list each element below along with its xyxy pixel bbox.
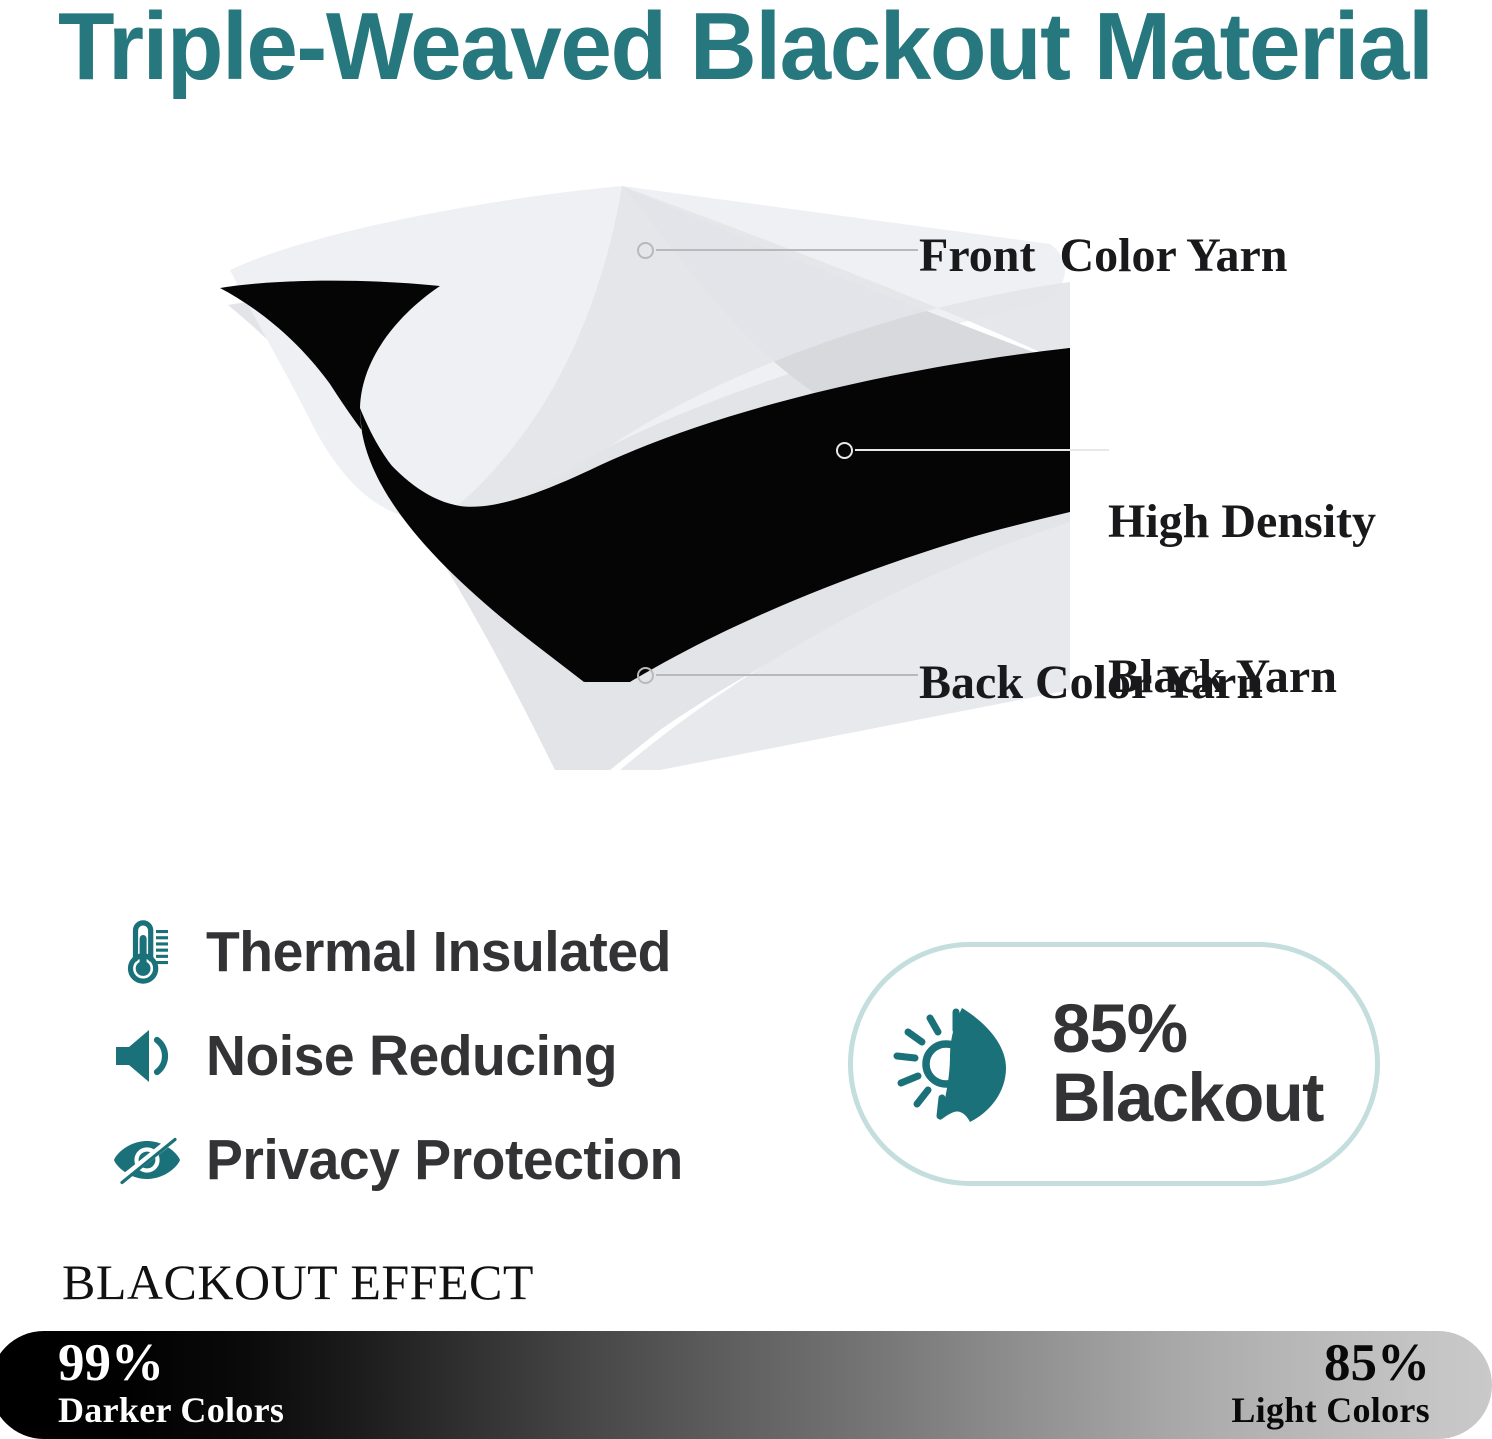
leader-dot-front [637, 242, 654, 259]
label-back-color-yarn: Back Color Yarn [919, 657, 1263, 709]
feature-label-noise-reducing: Noise Reducing [206, 1023, 617, 1089]
gradient-bar-left-caption: Darker Colors [58, 1390, 284, 1430]
badge-percent: 85% [1052, 995, 1331, 1063]
eye-slash-icon [112, 1124, 184, 1196]
label-high-density-line1: High Density [1108, 496, 1376, 548]
gradient-bar-right-caption: Light Colors [1231, 1390, 1430, 1430]
blackout-effect-heading: BLACKOUT EFFECT [62, 1253, 534, 1311]
leader-stroke-black-yarn [855, 449, 1109, 451]
page-title: Triple-Weaved Blackout Material [58, 0, 1409, 104]
blackout-percentage-badge: 85% Blackout [848, 942, 1380, 1186]
badge-text-block: 85% Blackout [1052, 995, 1331, 1133]
feature-noise-reducing: Noise Reducing [112, 1004, 772, 1108]
leader-dot-back [637, 667, 654, 684]
gradient-bar-left-stat: 99% Darker Colors [58, 1336, 284, 1430]
sun-behind-curtain-icon [865, 984, 1050, 1144]
feature-label-thermal-insulated: Thermal Insulated [206, 919, 671, 985]
speaker-icon [112, 1020, 184, 1092]
thermometer-icon [112, 916, 184, 988]
badge-word: Blackout [1052, 1063, 1323, 1133]
leader-dot-black-yarn [836, 442, 853, 459]
leader-stroke-front [656, 249, 918, 251]
feature-privacy-protection: Privacy Protection [112, 1108, 772, 1212]
feature-label-privacy-protection: Privacy Protection [206, 1127, 683, 1193]
label-front-color-yarn: Front Color Yarn [919, 230, 1287, 282]
gradient-bar-left-percent: 99% [58, 1336, 164, 1390]
gradient-bar-right-stat: 85% Light Colors [1231, 1336, 1430, 1430]
gradient-bar-right-percent: 85% [1324, 1336, 1430, 1390]
feature-list: Thermal Insulated Noise Reducing Privacy… [112, 900, 772, 1212]
leader-stroke-back [656, 674, 918, 676]
feature-thermal-insulated: Thermal Insulated [112, 900, 772, 1004]
